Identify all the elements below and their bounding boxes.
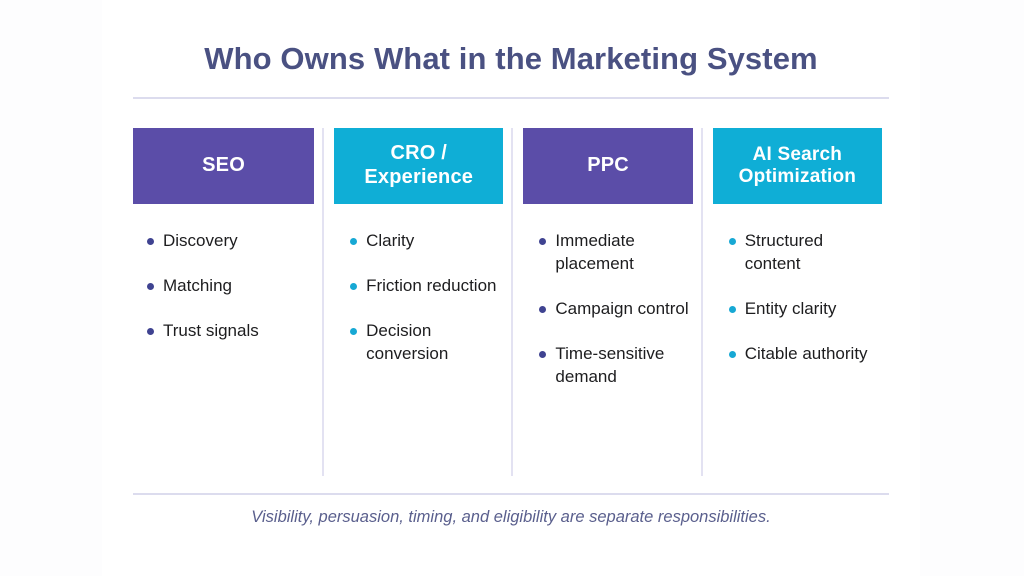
bullet-dot-icon [350,283,357,290]
column-header-ai-search-optimization: AI Search Optimization [713,128,882,204]
footer-note: Visibility, persuasion, timing, and elig… [133,508,889,527]
list-item-label: Citable authority [745,343,868,366]
page-title: Who Owns What in the Marketing System [133,40,889,77]
column-body-ppc: Immediate placement Campaign control Tim… [523,204,692,389]
list-item-label: Campaign control [555,298,688,321]
column-ai-search-optimization: AI Search Optimization Structured conten… [701,128,890,476]
bullet-dot-icon [539,238,546,245]
list-item-label: Clarity [366,230,414,253]
ownership-column-grid: SEO Discovery Matching Trust signals CRO… [133,128,890,476]
list-item: Matching [147,275,314,298]
list-item-label: Discovery [163,230,238,253]
list-item-label: Immediate placement [555,230,692,276]
column-header-ppc: PPC [523,128,692,204]
list-item: Clarity [350,230,503,253]
bullet-dot-icon [539,306,546,313]
list-item: Structured content [729,230,882,276]
list-item-label: Trust signals [163,320,259,343]
list-item: Decision conversion [350,320,503,366]
list-item-label: Entity clarity [745,298,837,321]
column-cro-experience: CRO / Experience Clarity Friction reduct… [322,128,511,476]
list-item: Discovery [147,230,314,253]
column-ppc: PPC Immediate placement Campaign control… [511,128,700,476]
list-item-label: Structured content [745,230,882,276]
column-header-seo: SEO [133,128,314,204]
bullet-dot-icon [147,328,154,335]
title-divider-rule [133,97,889,99]
list-item: Friction reduction [350,275,503,298]
column-body-seo: Discovery Matching Trust signals [133,204,314,343]
slide-canvas: Who Owns What in the Marketing System SE… [0,0,1024,576]
bullet-dot-icon [350,328,357,335]
list-item: Time-sensitive demand [539,343,692,389]
bullet-dot-icon [729,351,736,358]
bullet-dot-icon [539,351,546,358]
list-item: Trust signals [147,320,314,343]
list-item: Immediate placement [539,230,692,276]
bullet-dot-icon [729,306,736,313]
column-header-cro-experience: CRO / Experience [334,128,503,204]
list-item-label: Matching [163,275,232,298]
bullet-dot-icon [147,238,154,245]
list-item: Campaign control [539,298,692,321]
column-body-cro-experience: Clarity Friction reduction Decision conv… [334,204,503,366]
column-seo: SEO Discovery Matching Trust signals [133,128,322,476]
list-item: Citable authority [729,343,882,366]
bullet-dot-icon [729,238,736,245]
bullet-dot-icon [147,283,154,290]
list-item-label: Time-sensitive demand [555,343,692,389]
list-item: Entity clarity [729,298,882,321]
list-item-label: Friction reduction [366,275,496,298]
bullet-dot-icon [350,238,357,245]
footer-divider-rule [133,493,889,495]
list-item-label: Decision conversion [366,320,503,366]
column-body-ai-search-optimization: Structured content Entity clarity Citabl… [713,204,882,366]
